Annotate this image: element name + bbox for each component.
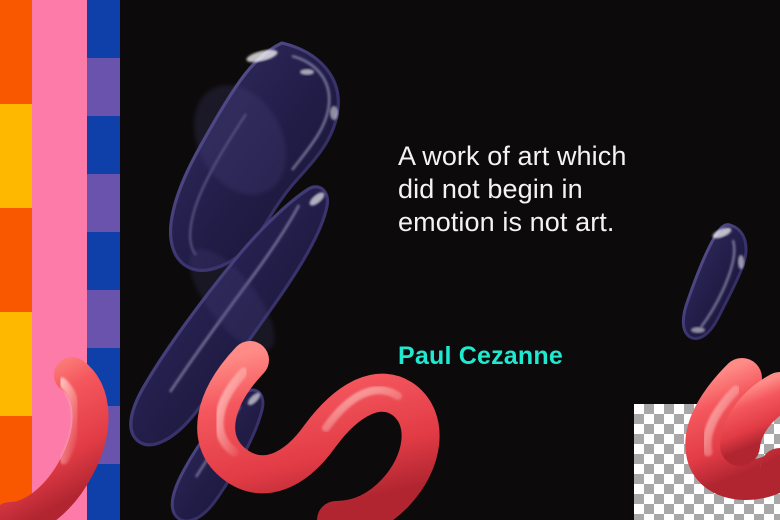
orange-yellow-bar-block-0 [0,0,32,104]
orange-yellow-bar [0,0,32,520]
quote-card-canvas: A work of art which did not begin in emo… [0,0,780,520]
blue-purple-bar-block-5 [87,290,120,348]
blue-purple-bar [87,0,120,520]
navy-blob-large [171,43,339,270]
navy-blob-bottom [172,390,263,520]
blue-purple-bar-block-8 [87,464,120,520]
blue-purple-bar-block-7 [87,406,120,464]
navy-blob-lower [131,187,328,445]
author-name: Paul Cezanne [398,341,563,371]
navy-blob-right [683,225,746,339]
orange-yellow-bar-block-2 [0,208,32,312]
coral-tube-center [216,360,420,520]
transparency-checkerboard [634,404,780,520]
pink-bar-block-0 [32,0,87,520]
blue-purple-bar-block-1 [87,58,120,116]
orange-yellow-bar-block-4 [0,416,32,520]
quote-text-block: A work of art which did not begin in emo… [398,140,728,239]
orange-yellow-bar-block-3 [0,312,32,416]
pink-bar [32,0,87,520]
blue-purple-bar-block-0 [87,0,120,58]
quote-text: A work of art which did not begin in emo… [398,140,728,239]
blue-purple-bar-block-2 [87,116,120,174]
orange-yellow-bar-block-1 [0,104,32,208]
blue-purple-bar-block-4 [87,232,120,290]
blue-purple-bar-block-6 [87,348,120,406]
blue-purple-bar-block-3 [87,174,120,232]
